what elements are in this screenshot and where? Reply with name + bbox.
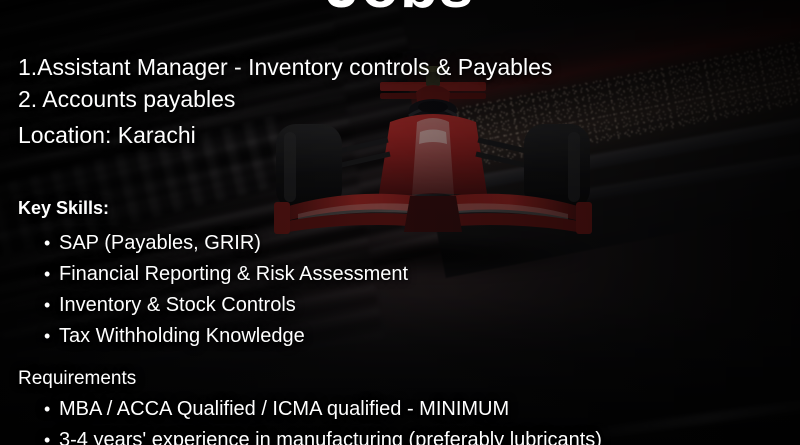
list-item: MBA / ACCA Qualified / ICMA qualified - …	[44, 394, 602, 425]
list-item: Financial Reporting & Risk Assessment	[44, 259, 408, 290]
requirements-heading: Requirements	[18, 368, 136, 390]
job-position-1: 1.Assistant Manager - Inventory controls…	[18, 54, 552, 81]
requirements-list: MBA / ACCA Qualified / ICMA qualified - …	[44, 394, 602, 445]
list-item: Tax Withholding Knowledge	[44, 321, 408, 352]
key-skills-list: SAP (Payables, GRIR) Financial Reporting…	[44, 228, 408, 352]
list-item: SAP (Payables, GRIR)	[44, 228, 408, 259]
job-position-2: 2. Accounts payables	[18, 86, 235, 113]
job-advert-slide: Jobs 1.Assistant Manager - Inventory con…	[0, 0, 800, 445]
job-location: Location: Karachi	[18, 122, 196, 149]
key-skills-heading: Key Skills:	[18, 198, 109, 219]
slide-title-clipped: Jobs	[0, 0, 800, 18]
slide-content: Jobs 1.Assistant Manager - Inventory con…	[0, 0, 800, 445]
list-item: Inventory & Stock Controls	[44, 290, 408, 321]
list-item: 3-4 years' experience in manufacturing (…	[44, 425, 602, 445]
